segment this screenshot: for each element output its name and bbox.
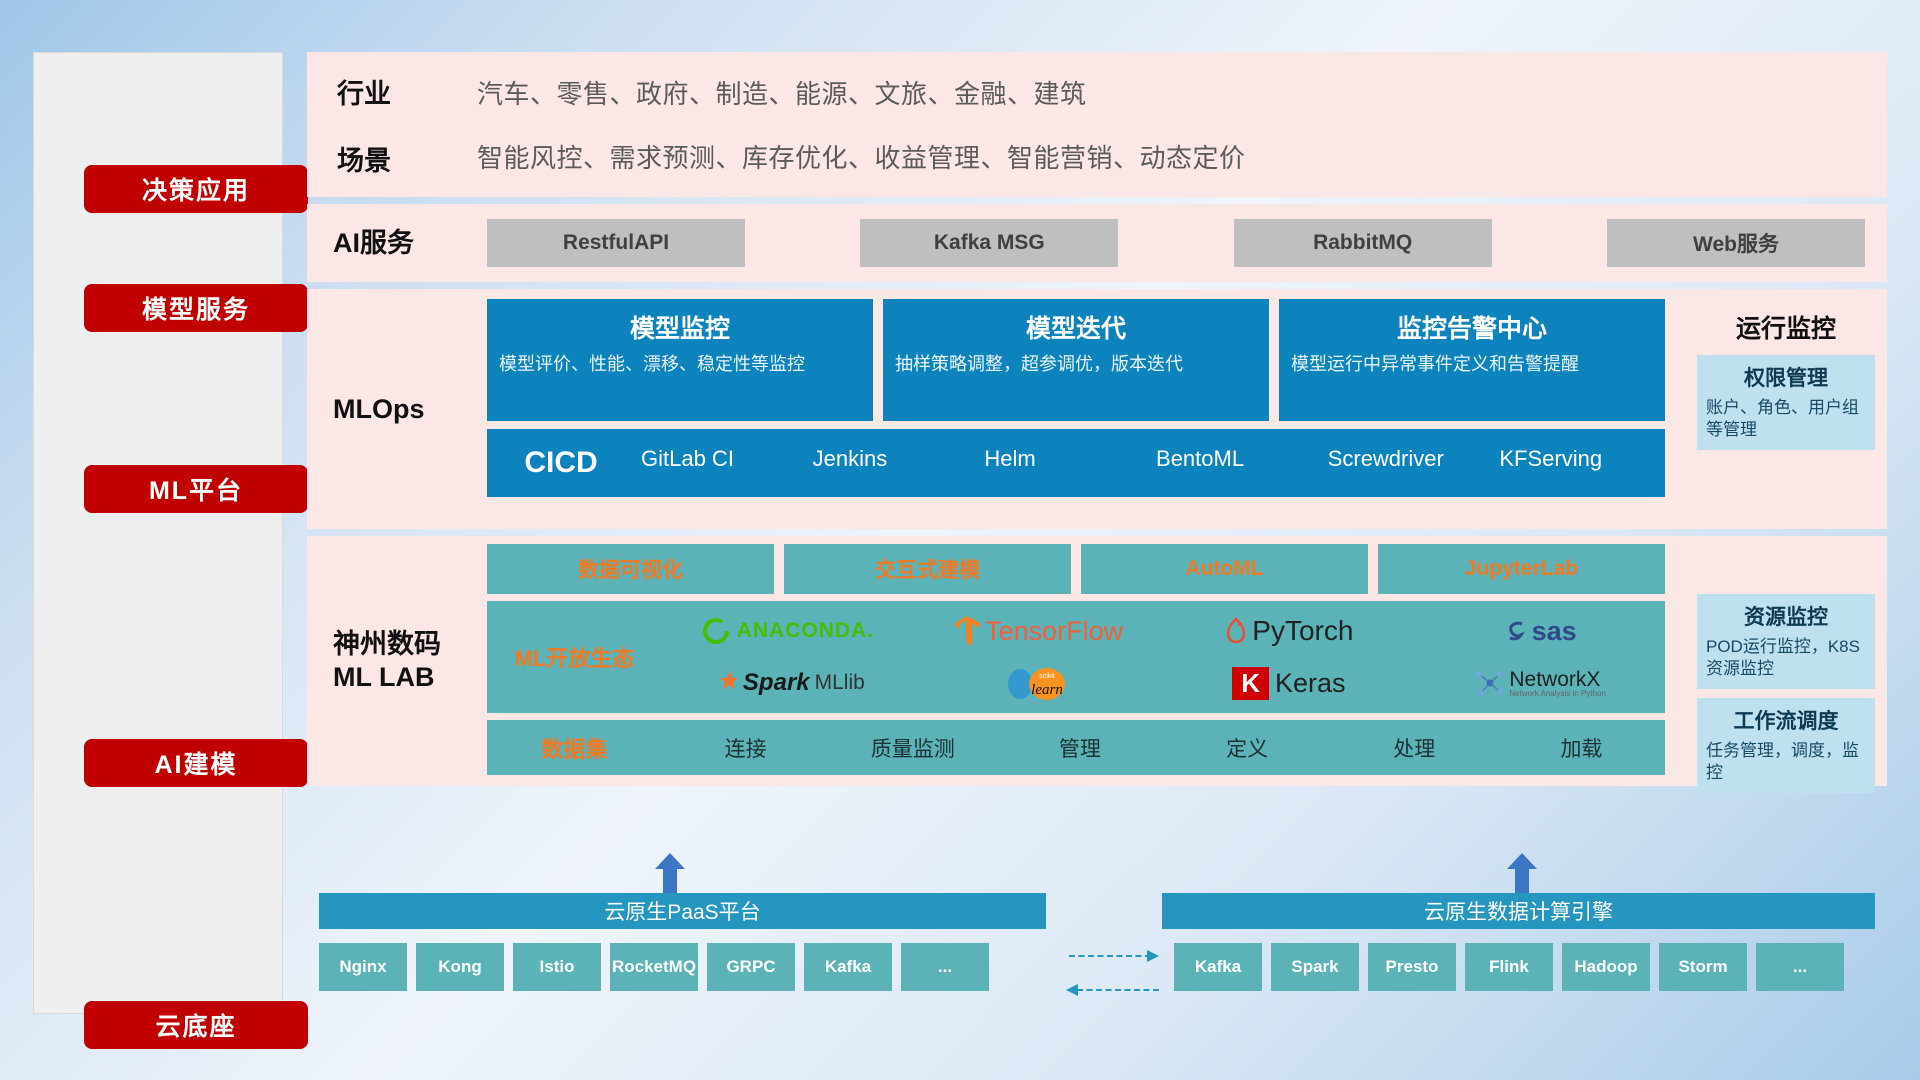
monitor-box-title: 权限管理 — [1706, 362, 1866, 392]
ml-lab-label: 神州数码 ML LAB — [307, 536, 487, 786]
svg-text:scikit: scikit — [1039, 673, 1055, 680]
data-engine-bar[interactable]: 云原生数据计算引擎 — [1162, 893, 1875, 929]
card-desc: 模型运行中异常事件定义和告警提醒 — [1291, 353, 1653, 377]
dash-connector-right — [1069, 955, 1151, 957]
data-tag-more[interactable]: ... — [1756, 943, 1844, 991]
mlops-card-model-iteration[interactable]: 模型迭代 抽样策略调整，超参调优，版本迭代 — [883, 299, 1269, 421]
ai-modeling-band: 神州数码 ML LAB 数据可视化 交互式建模 AutoML JupyterLa… — [307, 536, 1887, 786]
industry-list: 汽车、零售、政府、制造、能源、文旅、金融、建筑 — [477, 74, 1887, 111]
arrow-up-paas-icon — [651, 853, 689, 893]
dataset-label: 数据集 — [487, 732, 662, 764]
sidebar-item-label: AI建模 — [154, 745, 237, 781]
data-tag-storm[interactable]: Storm — [1659, 943, 1747, 991]
sidebar-item-label: ML平台 — [149, 471, 243, 507]
cicd-tool-gitlab-ci[interactable]: GitLab CI — [635, 429, 807, 473]
mlops-card-model-monitoring[interactable]: 模型监控 模型评价、性能、漂移、稳定性等监控 — [487, 299, 873, 421]
ml-lab-label-line1: 神州数码 — [333, 628, 487, 661]
arrow-up-data-icon — [1503, 853, 1541, 893]
industry-values: 汽车、零售、政府、制造、能源、文旅、金融、建筑 智能风控、需求预测、库存优化、收… — [477, 74, 1887, 175]
paas-tag-more[interactable]: ... — [901, 943, 989, 991]
mlops-cards: 模型监控 模型评价、性能、漂移、稳定性等监控 模型迭代 抽样策略调整，超参调优，… — [487, 299, 1665, 421]
paas-tag-nginx[interactable]: Nginx — [319, 943, 407, 991]
cicd-tool-helm[interactable]: Helm — [978, 429, 1150, 473]
monitor-box-desc: POD运行监控，K8S资源监控 — [1706, 636, 1866, 680]
architecture-diagram: 决策应用 模型服务 ML平台 AI建模 云底座 行业 场景 汽车、零售、政府、制… — [0, 0, 1920, 1080]
scikit-learn-logo: scikit learn — [1005, 665, 1071, 701]
layer-rail: 决策应用 模型服务 ML平台 AI建模 云底座 — [33, 52, 283, 1014]
cicd-tool-bentoml[interactable]: BentoML — [1150, 429, 1322, 473]
monitor-column-top: 运行监控 权限管理 账户、角色、用户组等管理 — [1687, 289, 1887, 529]
data-tag-kafka[interactable]: Kafka — [1174, 943, 1262, 991]
tab-jupyterlab[interactable]: JupyterLab — [1378, 544, 1665, 594]
sidebar-item-label: 决策应用 — [142, 171, 250, 207]
cicd-tool-kfserving[interactable]: KFServing — [1493, 429, 1665, 473]
industry-label: 行业 — [337, 72, 477, 111]
paas-tag-grpc[interactable]: GRPC — [707, 943, 795, 991]
monitor-column-bottom: 资源监控 POD运行监控，K8S资源监控 工作流调度 任务管理，调度，监控 — [1687, 536, 1887, 786]
data-tag-spark[interactable]: Spark — [1271, 943, 1359, 991]
dataset-row: 数据集 连接 质量监测 管理 定义 处理 加载 — [487, 720, 1665, 775]
mlops-band: MLOps 模型监控 模型评价、性能、漂移、稳定性等监控 模型迭代 抽样策略调整… — [307, 289, 1887, 529]
cicd-tools: GitLab CI Jenkins Helm BentoML Screwdriv… — [635, 429, 1665, 497]
dataset-item-process[interactable]: 处理 — [1331, 733, 1498, 763]
tensorflow-logo: TensorFlow — [953, 615, 1123, 647]
sidebar-item-cloud-base[interactable]: 云底座 — [84, 1001, 308, 1049]
service-chip-rabbitmq[interactable]: RabbitMQ — [1234, 219, 1492, 267]
dataset-item-load[interactable]: 加载 — [1498, 733, 1665, 763]
paas-tag-rocketmq[interactable]: RocketMQ — [610, 943, 698, 991]
monitor-box-desc: 任务管理，调度，监控 — [1706, 740, 1866, 784]
mlops-label: MLOps — [307, 289, 487, 529]
monitor-box-permission[interactable]: 权限管理 账户、角色、用户组等管理 — [1697, 355, 1875, 450]
data-tag-hadoop[interactable]: Hadoop — [1562, 943, 1650, 991]
scenario-label: 场景 — [337, 139, 477, 178]
ml-ecosystem-logos: ANACONDA. TensorFlow — [662, 605, 1665, 709]
card-title: 模型监控 — [499, 309, 861, 345]
card-desc: 模型评价、性能、漂移、稳定性等监控 — [499, 353, 861, 377]
anaconda-logo: ANACONDA. — [701, 616, 874, 646]
dataset-item-manage[interactable]: 管理 — [996, 733, 1163, 763]
monitor-box-desc: 账户、角色、用户组等管理 — [1706, 397, 1866, 441]
sidebar-item-model-service[interactable]: 模型服务 — [84, 284, 308, 332]
industry-scenario-band: 行业 场景 汽车、零售、政府、制造、能源、文旅、金融、建筑 智能风控、需求预测、… — [307, 52, 1887, 197]
paas-tag-row: Nginx Kong Istio RocketMQ GRPC Kafka ... — [319, 943, 989, 991]
service-chip-kafka-msg[interactable]: Kafka MSG — [860, 219, 1118, 267]
main-stack: 行业 场景 汽车、零售、政府、制造、能源、文旅、金融、建筑 智能风控、需求预测、… — [307, 52, 1887, 786]
monitor-title: 运行监控 — [1697, 297, 1875, 355]
dataset-item-quality[interactable]: 质量监测 — [829, 733, 996, 763]
paas-platform-bar[interactable]: 云原生PaaS平台 — [319, 893, 1046, 929]
mlops-body: 模型监控 模型评价、性能、漂移、稳定性等监控 模型迭代 抽样策略调整，超参调优，… — [487, 289, 1687, 529]
cicd-row: CICD GitLab CI Jenkins Helm BentoML Scre… — [487, 429, 1665, 497]
tab-automl[interactable]: AutoML — [1081, 544, 1368, 594]
industry-labels: 行业 场景 — [307, 72, 477, 178]
dataset-item-connect[interactable]: 连接 — [662, 733, 829, 763]
data-tag-presto[interactable]: Presto — [1368, 943, 1456, 991]
ml-ecosystem-row: ML开放生态 ANACONDA. TensorFlow — [487, 601, 1665, 713]
card-title: 模型迭代 — [895, 309, 1257, 345]
monitor-box-resource[interactable]: 资源监控 POD运行监控，K8S资源监控 — [1697, 594, 1875, 689]
cloud-foundation-band: 云原生PaaS平台 云原生数据计算引擎 Nginx Kong Istio Roc… — [307, 893, 1887, 1013]
pytorch-logo: PyTorch — [1224, 615, 1353, 647]
service-chip-restfulapi[interactable]: RestfulAPI — [487, 219, 745, 267]
sidebar-item-ml-platform[interactable]: ML平台 — [84, 465, 308, 513]
monitor-box-title: 资源监控 — [1706, 601, 1866, 631]
ml-lab-body: 数据可视化 交互式建模 AutoML JupyterLab ML开放生态 ANA… — [487, 536, 1687, 786]
paas-tag-istio[interactable]: Istio — [513, 943, 601, 991]
sas-logo: sas — [1503, 616, 1577, 647]
svg-text:learn: learn — [1031, 682, 1063, 698]
sidebar-item-ai-modeling[interactable]: AI建模 — [84, 739, 308, 787]
card-desc: 抽样策略调整，超参调优，版本迭代 — [895, 353, 1257, 377]
dataset-item-define[interactable]: 定义 — [1164, 733, 1331, 763]
cicd-tool-screwdriver[interactable]: Screwdriver — [1322, 429, 1494, 473]
scenario-list: 智能风控、需求预测、库存优化、收益管理、智能营销、动态定价 — [477, 138, 1887, 175]
paas-tag-kong[interactable]: Kong — [416, 943, 504, 991]
monitor-box-workflow[interactable]: 工作流调度 任务管理，调度，监控 — [1697, 698, 1875, 793]
ai-service-band: AI服务 RestfulAPI Kafka MSG RabbitMQ Web服务 — [307, 204, 1887, 282]
tab-data-visualization[interactable]: 数据可视化 — [487, 544, 774, 594]
sidebar-item-decision-app[interactable]: 决策应用 — [84, 165, 308, 213]
ai-service-list: RestfulAPI Kafka MSG RabbitMQ Web服务 — [487, 219, 1887, 267]
data-tag-row: Kafka Spark Presto Flink Hadoop Storm ..… — [1174, 943, 1844, 991]
data-engine-title: 云原生数据计算引擎 — [1424, 896, 1613, 926]
ml-lab-label-line2: ML LAB — [333, 661, 487, 694]
cicd-tool-jenkins[interactable]: Jenkins — [807, 429, 979, 473]
service-chip-web-service[interactable]: Web服务 — [1607, 219, 1865, 267]
card-title: 监控告警中心 — [1291, 309, 1653, 345]
tab-interactive-modeling[interactable]: 交互式建模 — [784, 544, 1071, 594]
sidebar-item-label: 云底座 — [155, 1007, 236, 1043]
ai-service-label: AI服务 — [307, 227, 487, 260]
networkx-logo: NetworkX Network Analysis in Python — [1473, 668, 1606, 698]
ml-lab-tabs: 数据可视化 交互式建模 AutoML JupyterLab — [487, 544, 1665, 594]
keras-logo: K Keras — [1232, 667, 1345, 700]
sidebar-item-label: 模型服务 — [142, 290, 250, 326]
ml-ecosystem-label: ML开放生态 — [487, 641, 662, 673]
cicd-title: CICD — [487, 429, 635, 497]
dash-arrow-left-icon — [1064, 982, 1078, 998]
mlops-card-alert-center[interactable]: 监控告警中心 模型运行中异常事件定义和告警提醒 — [1279, 299, 1665, 421]
dash-connector-left — [1077, 989, 1159, 991]
spark-mllib-logo: Spark MLlib — [710, 669, 865, 697]
modeling-left: 神州数码 ML LAB 数据可视化 交互式建模 AutoML JupyterLa… — [307, 536, 1687, 786]
mlops-left: MLOps 模型监控 模型评价、性能、漂移、稳定性等监控 模型迭代 抽样策略调整… — [307, 289, 1687, 529]
paas-platform-title: 云原生PaaS平台 — [604, 896, 760, 926]
paas-tag-kafka[interactable]: Kafka — [804, 943, 892, 991]
monitor-box-title: 工作流调度 — [1706, 705, 1866, 735]
dataset-items: 连接 质量监测 管理 定义 处理 加载 — [662, 733, 1665, 763]
dash-arrow-right-icon — [1147, 948, 1161, 964]
data-tag-flink[interactable]: Flink — [1465, 943, 1553, 991]
